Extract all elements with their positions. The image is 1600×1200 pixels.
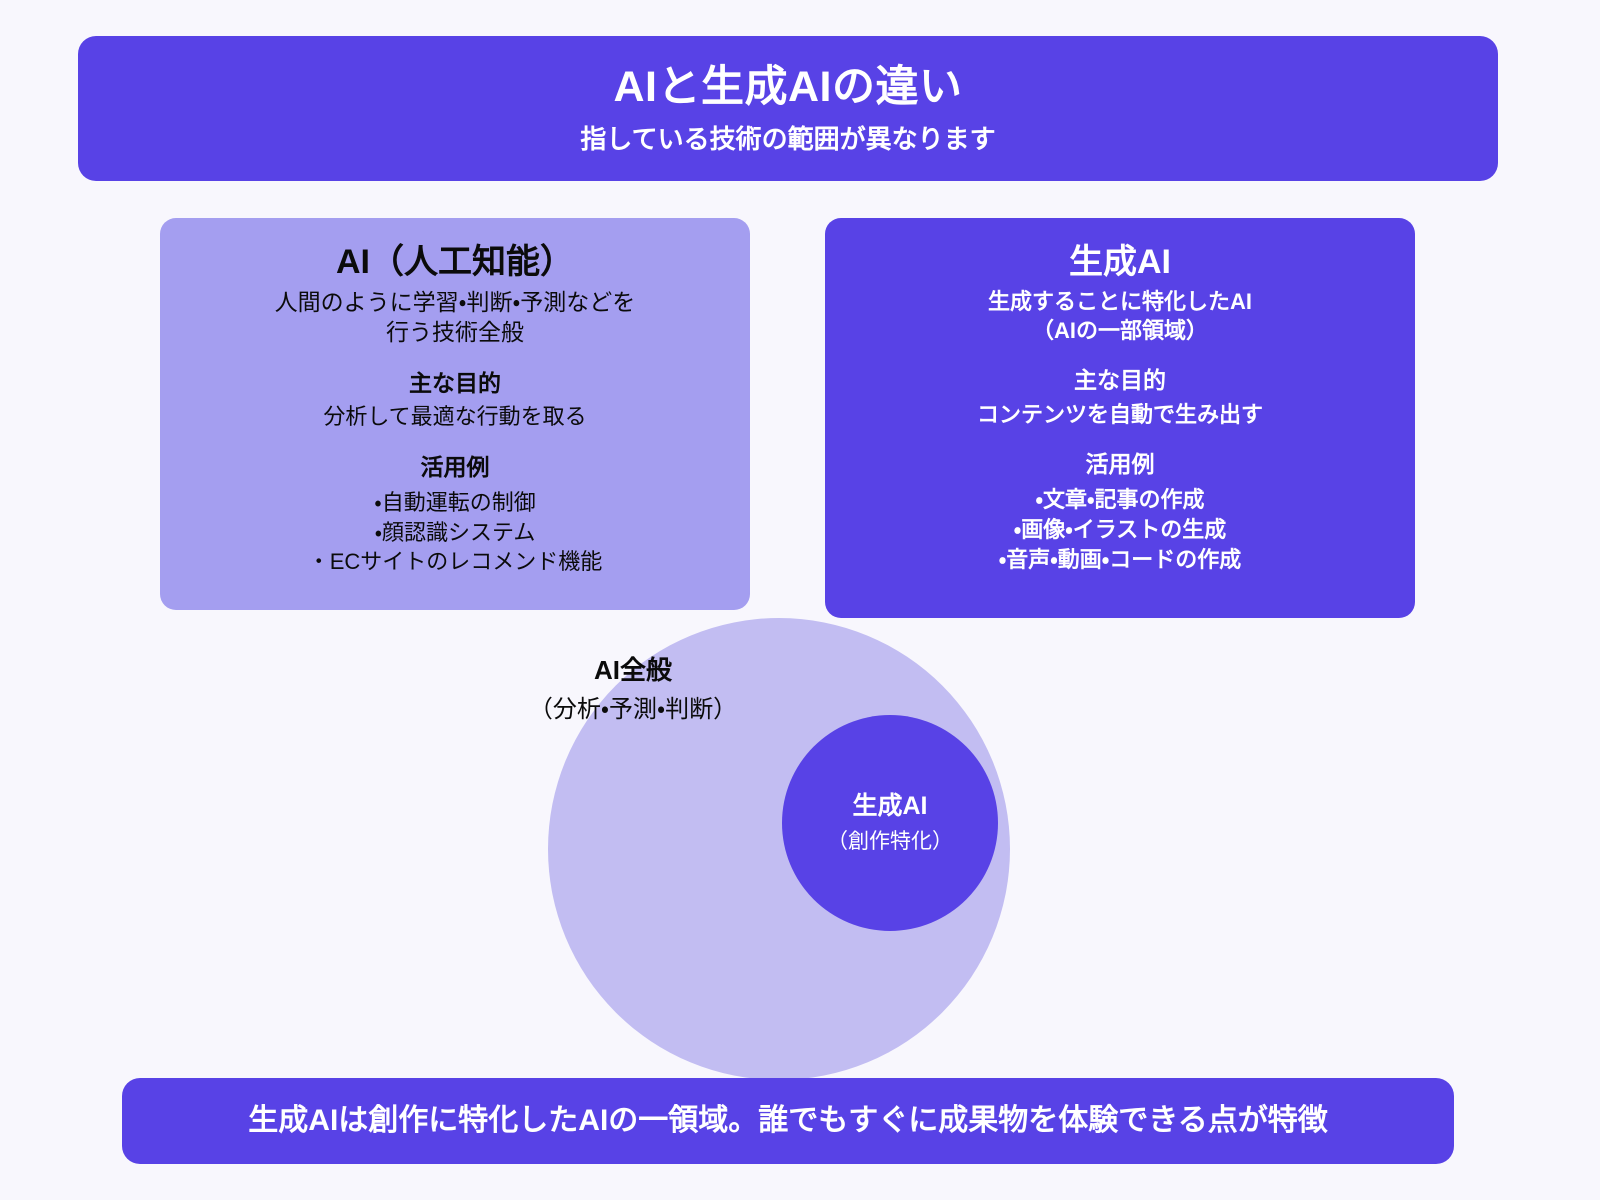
page-title: AIと生成AIの違い <box>614 64 963 111</box>
card-ai-purpose-label: 主な目的 <box>184 370 726 398</box>
card-lead-ai-line2: 行う技術全般 <box>386 319 524 345</box>
footer-summary-text: 生成AIは創作に特化したAIの一領域。誰でもすぐに成果物を体験できる点が特徴 <box>248 1103 1327 1139</box>
venn-outer-subtitle: （分析・予測・判断） <box>508 696 758 725</box>
card-generative-ai-purpose-label: 主な目的 <box>849 367 1391 395</box>
header-banner: AIと生成AIの違い 指している技術の範囲が異なります <box>78 36 1498 181</box>
list-item: ・画像・イラストの生成 <box>849 515 1391 545</box>
venn-outer-title: AI全般 <box>508 655 758 686</box>
card-ai-examples-list: ・自動運転の制御 ・顔認識システム ・ECサイトのレコメンド機能 <box>184 488 726 578</box>
card-lead-generative-ai-line2: （AIの一部領域） <box>1032 318 1208 343</box>
venn-inner-circle-generative-ai: 生成AI （創作特化） <box>782 715 998 931</box>
card-generative-ai-examples-list: ・文章・記事の作成 ・画像・イラストの生成 ・音声・動画・コードの作成 <box>849 485 1391 575</box>
infographic-canvas: AIと生成AIの違い 指している技術の範囲が異なります AI（人工知能） 人間の… <box>0 0 1600 1200</box>
venn-inner-title: 生成AI <box>852 791 927 821</box>
card-generative-ai-examples-label: 活用例 <box>849 451 1391 479</box>
list-item: ・音声・動画・コードの作成 <box>849 545 1391 575</box>
card-lead-ai: 人間のように学習・判断・予測などを 行う技術全般 <box>184 288 726 348</box>
list-item: ・顔認識システム <box>184 518 726 548</box>
comparison-card-ai: AI（人工知能） 人間のように学習・判断・予測などを 行う技術全般 主な目的 分… <box>160 218 750 610</box>
card-ai-examples-label: 活用例 <box>184 454 726 482</box>
card-ai-purpose-body: 分析して最適な行動を取る <box>184 403 726 432</box>
card-title-ai: AI（人工知能） <box>184 242 726 282</box>
card-lead-generative-ai-line1: 生成することに特化したAI <box>988 289 1252 314</box>
card-lead-generative-ai: 生成することに特化したAI （AIの一部領域） <box>849 288 1391 345</box>
card-lead-ai-line1: 人間のように学習・判断・予測などを <box>275 289 636 315</box>
card-title-generative-ai: 生成AI <box>849 242 1391 282</box>
page-subtitle: 指している技術の範囲が異なります <box>580 125 995 154</box>
comparison-card-generative-ai: 生成AI 生成することに特化したAI （AIの一部領域） 主な目的 コンテンツを… <box>825 218 1415 618</box>
card-generative-ai-purpose-body: コンテンツを自動で生み出す <box>849 401 1391 430</box>
list-item: ・ECサイトのレコメンド機能 <box>184 547 726 577</box>
list-item: ・自動運転の制御 <box>184 488 726 518</box>
list-item: ・文章・記事の作成 <box>849 485 1391 515</box>
venn-inner-subtitle: （創作特化） <box>827 829 953 854</box>
venn-outer-label: AI全般 （分析・予測・判断） <box>508 655 758 725</box>
footer-banner: 生成AIは創作に特化したAIの一領域。誰でもすぐに成果物を体験できる点が特徴 <box>122 1078 1454 1164</box>
